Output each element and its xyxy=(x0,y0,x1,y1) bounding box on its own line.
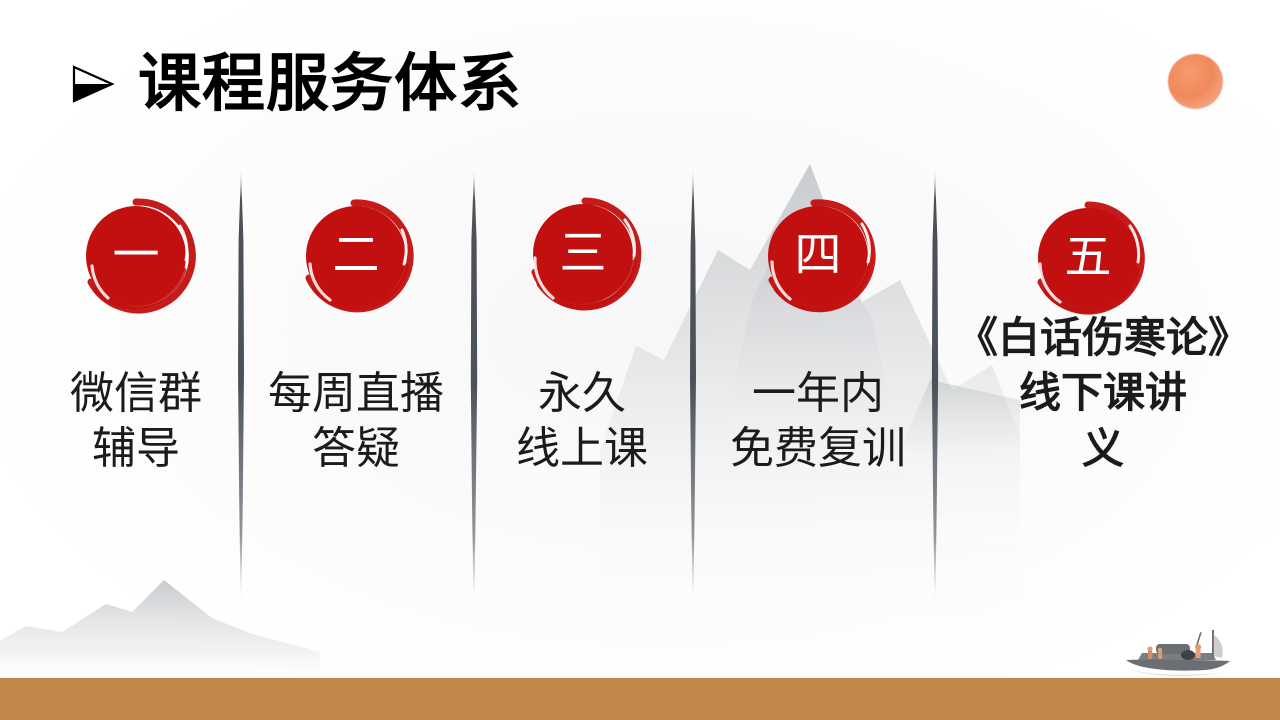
number-badge-2: 二 xyxy=(294,194,418,318)
service-label-4: 一年内 免费复训 xyxy=(712,366,924,477)
number-label-4: 四 xyxy=(756,194,880,318)
number-label-5: 五 xyxy=(1026,196,1150,320)
page-title: 课程服务体系 xyxy=(70,52,522,115)
number-badge-1: 一 xyxy=(74,194,198,318)
footer-band xyxy=(0,678,1280,720)
number-badge-4: 四 xyxy=(756,194,880,318)
service-label-2: 每周直播 答疑 xyxy=(256,366,456,477)
slide-canvas: 课程服务体系 xyxy=(0,0,1280,720)
number-badge-5: 五 xyxy=(1026,196,1150,320)
service-label-5: 《白话伤寒论》 线下课讲 义 xyxy=(938,310,1268,476)
service-items-row: 一 微信群 辅导 二 每周直播 答疑 xyxy=(0,170,1280,610)
number-label-3: 三 xyxy=(521,192,645,316)
service-label-1: 微信群 辅导 xyxy=(40,366,232,477)
title-label: 课程服务体系 xyxy=(138,52,522,115)
arrow-bullet-icon xyxy=(70,61,116,107)
service-label-3: 永久 线上课 xyxy=(483,366,681,477)
number-badge-3: 三 xyxy=(521,192,645,316)
ink-boat-icon xyxy=(1112,620,1242,682)
sun-icon xyxy=(1168,54,1223,109)
number-label-2: 二 xyxy=(294,194,418,318)
number-label-1: 一 xyxy=(74,194,198,318)
